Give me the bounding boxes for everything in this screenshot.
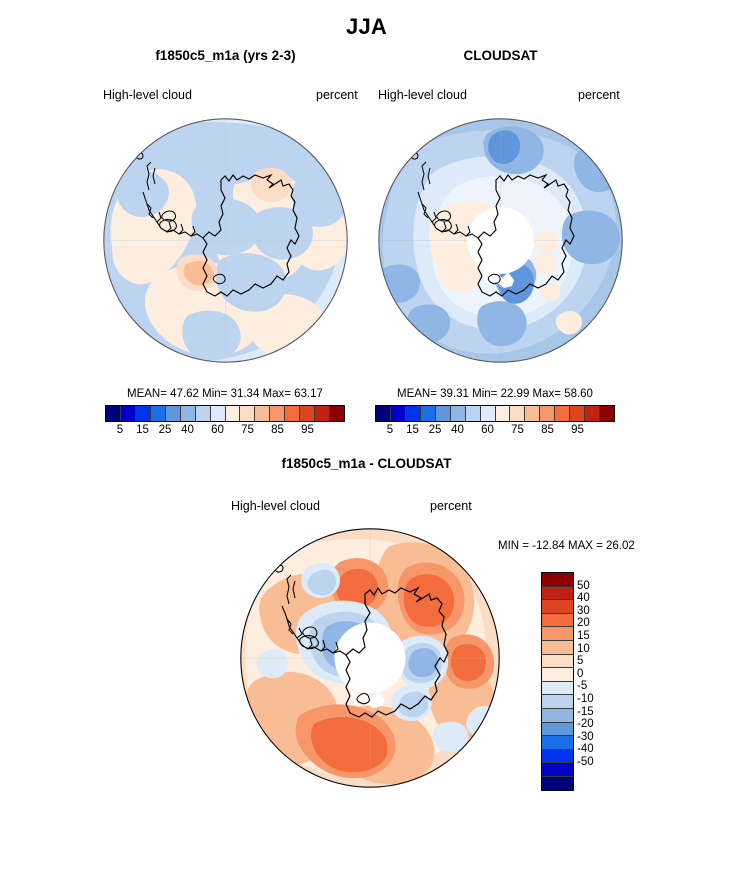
colorbar-cell [211,406,226,421]
colorbar-obs-ticks: 515254060758595 [375,422,615,438]
colorbar-difference-swatches [541,572,574,791]
colorbar-tick-label: 95 [571,424,584,436]
colorbar-obs-swatches [375,405,615,422]
colorbar-cell [600,406,614,421]
map-difference[interactable] [240,528,500,788]
colorbar-tick-label: 15 [136,424,149,436]
colorbar-tick-label: 10 [577,643,590,655]
colorbar-tick-label: 60 [211,424,224,436]
colorbar-cell [300,406,315,421]
colorbar-cell [330,406,344,421]
colorbar-cell [542,627,573,641]
colorbar-cell [270,406,285,421]
colorbar-cell [421,406,436,421]
obs-units-label: percent [578,88,620,102]
colorbar-cell [540,406,555,421]
colorbar-cell [525,406,540,421]
colorbar-cell [166,406,181,421]
colorbar-cell [226,406,241,421]
colorbar-cell [570,406,585,421]
colorbar-difference-ticks: 50403020151050-5-10-15-20-30-40-50 [577,572,617,776]
colorbar-cell [196,406,211,421]
colorbar-cell [542,655,573,669]
colorbar-cell [436,406,451,421]
colorbar-tick-label: 5 [387,424,393,436]
colorbar-tick-label: 5 [577,655,583,667]
colorbar-tick-label: 5 [117,424,123,436]
colorbar-tick-label: 75 [511,424,524,436]
colorbar-cell [542,682,573,696]
colorbar-cell [466,406,481,421]
colorbar-cell [376,406,391,421]
colorbar-cell [542,641,573,655]
colorbar-cell [391,406,406,421]
page-title: JJA [0,14,733,40]
panel-title-diff: f1850c5_m1a - CLOUDSAT [183,456,550,471]
colorbar-model-swatches [105,405,345,422]
colorbar-model-ticks: 515254060758595 [105,422,345,438]
colorbar-tick-label: -15 [577,706,594,718]
colorbar-model[interactable]: 515254060758595 [105,405,345,438]
colorbar-tick-label: 15 [577,630,590,642]
model-stats: MEAN= 47.62 Min= 31.34 Max= 63.17 [105,388,345,400]
colorbar-cell [496,406,511,421]
colorbar-cell [542,723,573,737]
colorbar-tick-label: 85 [271,424,284,436]
colorbar-cell [542,600,573,614]
colorbar-tick-label: -30 [577,731,594,743]
colorbar-cell [181,406,196,421]
colorbar-cell [255,406,270,421]
colorbar-cell [406,406,421,421]
colorbar-cell [136,406,151,421]
colorbar-tick-label: 40 [451,424,464,436]
colorbar-tick-label: 25 [429,424,442,436]
colorbar-cell [542,614,573,628]
colorbar-tick-label: 60 [481,424,494,436]
colorbar-cell [451,406,466,421]
obs-variable-label: High-level cloud [378,88,467,102]
colorbar-cell [542,750,573,764]
colorbar-cell [106,406,121,421]
colorbar-cell [542,573,573,587]
diff-units-label: percent [430,499,472,513]
colorbar-cell [285,406,300,421]
map-model[interactable] [103,118,348,363]
colorbar-cell [542,777,573,790]
colorbar-tick-label: -50 [577,756,594,768]
colorbar-tick-label: 15 [406,424,419,436]
colorbar-cell [151,406,166,421]
colorbar-tick-label: -20 [577,718,594,730]
colorbar-cell [542,709,573,723]
colorbar-tick-label: 95 [301,424,314,436]
colorbar-cell [542,763,573,777]
panel-title-model: f1850c5_m1a (yrs 2-3) [103,48,348,63]
diff-variable-label: High-level cloud [231,499,320,513]
colorbar-cell [585,406,600,421]
colorbar-tick-label: 20 [577,617,590,629]
colorbar-cell [481,406,496,421]
colorbar-cell [240,406,255,421]
colorbar-tick-label: 75 [241,424,254,436]
colorbar-tick-label: 50 [577,580,590,592]
map-obs[interactable] [378,118,623,363]
colorbar-tick-label: 85 [541,424,554,436]
colorbar-tick-label: -10 [577,693,594,705]
colorbar-tick-label: 40 [181,424,194,436]
colorbar-cell [542,668,573,682]
colorbar-tick-label: 25 [159,424,172,436]
colorbar-cell [121,406,136,421]
colorbar-cell [542,695,573,709]
colorbar-tick-label: 0 [577,668,583,680]
colorbar-obs[interactable]: 515254060758595 [375,405,615,438]
colorbar-cell [315,406,330,421]
colorbar-tick-label: 30 [577,605,590,617]
panel-title-obs: CLOUDSAT [378,48,623,63]
colorbar-difference[interactable]: 50403020151050-5-10-15-20-30-40-50 [541,572,574,791]
colorbar-tick-label: -40 [577,743,594,755]
diff-stats: MIN = -12.84 MAX = 26.02 [498,540,635,552]
colorbar-cell [510,406,525,421]
colorbar-cell [542,736,573,750]
colorbar-cell [555,406,570,421]
model-variable-label: High-level cloud [103,88,192,102]
model-units-label: percent [316,88,358,102]
colorbar-tick-label: 40 [577,592,590,604]
obs-stats: MEAN= 39.31 Min= 22.99 Max= 58.60 [375,388,615,400]
colorbar-tick-label: -5 [577,680,587,692]
colorbar-cell [542,587,573,601]
